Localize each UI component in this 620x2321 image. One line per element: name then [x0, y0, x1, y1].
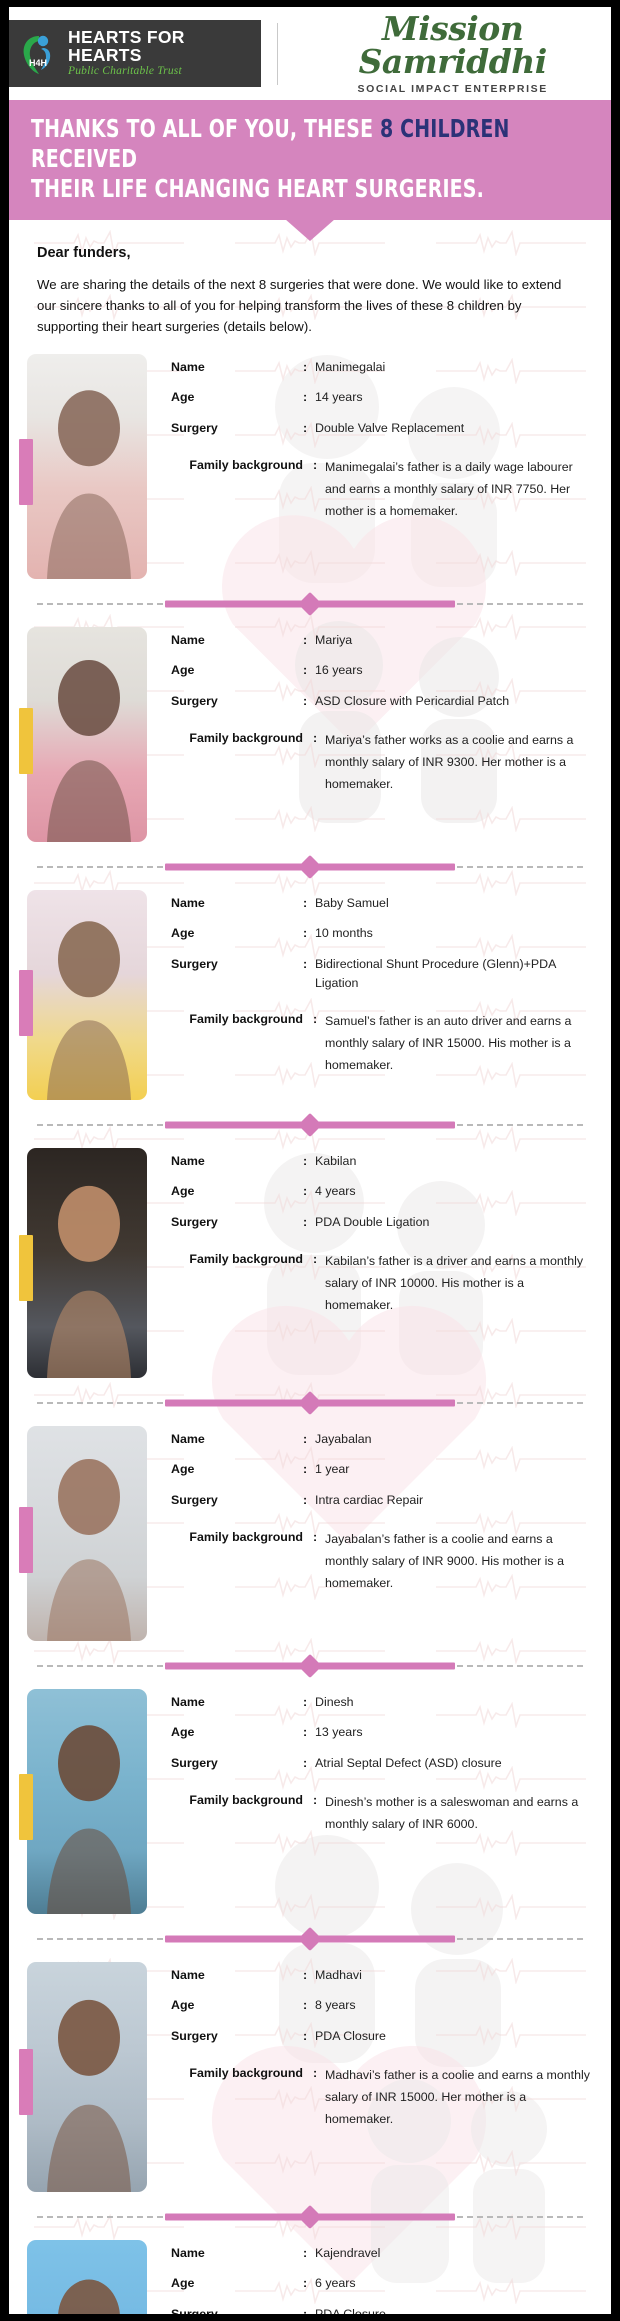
family-background-colon: : [313, 1250, 325, 1269]
divider-diamond-icon [298, 855, 322, 879]
divider-diamond-icon [298, 1654, 322, 1678]
child-entry: Name:KabilanAge: 4 yearsSurgery:PDA Doub… [9, 1148, 611, 1378]
child-photo [27, 1426, 147, 1641]
family-background-colon: : [313, 1010, 325, 1029]
family-background-value: Dinesh’s mother is a saleswoman and earn… [325, 1791, 591, 1835]
family-background-colon: : [313, 1791, 325, 1810]
surgery-colon: : [303, 2305, 315, 2314]
name-value: Manimegalai [315, 358, 385, 377]
surgery-value: Atrial Septal Defect (ASD) closure [315, 1754, 502, 1773]
divider-diamond-icon [298, 1927, 322, 1951]
name-label: Name [171, 1430, 303, 1449]
surgery-value: ASD Closure with Pericardial Patch [315, 692, 509, 711]
name-label: Name [171, 1152, 303, 1171]
surgery-colon: : [303, 1754, 315, 1773]
surgery-value: Double Valve Replacement [315, 419, 464, 438]
headline-part2: RECEIVED [31, 144, 137, 173]
name-row: Name:Baby Samuel [171, 894, 591, 913]
age-label: Age [171, 1460, 303, 1479]
surgery-label: Surgery [171, 1754, 303, 1773]
name-value: Jayabalan [315, 1430, 372, 1449]
surgery-row: Surgery:Atrial Septal Defect (ASD) closu… [171, 1754, 591, 1773]
name-row: Name:Jayabalan [171, 1430, 591, 1449]
surgery-colon: : [303, 1491, 315, 1510]
age-label: Age [171, 1723, 303, 1742]
divider-diamond-icon [298, 2205, 322, 2229]
family-background-value: Samuel’s father is an auto driver and ea… [325, 1010, 591, 1076]
family-background-value: Madhavi’s father is a coolie and earns a… [325, 2064, 591, 2130]
accent-bar [19, 708, 33, 774]
surgery-colon: : [303, 1213, 315, 1232]
age-value: 16 years [315, 661, 363, 680]
age-value: 14 years [315, 388, 363, 407]
age-colon: : [303, 1996, 315, 2015]
child-photo [27, 890, 147, 1100]
family-background-row: Family background:Mariya’s father works … [171, 729, 591, 795]
family-background-colon: : [313, 456, 325, 475]
family-background-colon: : [313, 1528, 325, 1547]
age-value: 6 years [315, 2274, 356, 2293]
family-background-colon: : [313, 2064, 325, 2083]
surgery-label: Surgery [171, 419, 303, 438]
name-value: Mariya [315, 631, 352, 650]
accent-bar [19, 970, 33, 1036]
name-value: Dinesh [315, 1693, 354, 1712]
surgery-row: Surgery:PDA Closure [171, 2027, 591, 2046]
child-photo-wrap [27, 890, 147, 1100]
name-value: Kajendravel [315, 2244, 380, 2263]
child-entry: Name:MadhaviAge:8 yearsSurgery:PDA Closu… [9, 1962, 611, 2192]
name-colon: : [303, 2244, 315, 2263]
intro-section: Dear funders, We are sharing the details… [9, 220, 611, 344]
surgery-label: Surgery [171, 955, 303, 992]
entry-divider [9, 585, 611, 623]
name-colon: : [303, 1693, 315, 1712]
accent-bar [19, 2049, 33, 2115]
headline: THANKS TO ALL OF YOU, THESE 8 CHILDREN R… [31, 114, 511, 204]
surgery-value: PDA Closure [315, 2305, 386, 2314]
children-list: Name:ManimegalaiAge:14 yearsSurgery:Doub… [9, 344, 611, 2314]
header: H4H HEARTS FOR HEARTS Public Charitable … [9, 7, 611, 100]
family-background-value: Kabilan’s father is a driver and earns a… [325, 1250, 591, 1316]
surgery-value: Intra cardiac Repair [315, 1491, 423, 1510]
name-colon: : [303, 1152, 315, 1171]
accent-bar [19, 439, 33, 505]
age-colon: : [303, 1182, 315, 1201]
age-colon: : [303, 661, 315, 680]
age-row: Age:16 years [171, 661, 591, 680]
child-photo-wrap [27, 1426, 147, 1641]
age-value: 8 years [315, 1996, 356, 2015]
surgery-row: Surgery:PDA Closure [171, 2305, 591, 2314]
entry-divider [9, 1106, 611, 1144]
h4h-logo-icon: H4H [19, 32, 59, 76]
entry-divider [9, 2198, 611, 2236]
age-colon: : [303, 2274, 315, 2293]
entry-divider [9, 848, 611, 886]
infographic-page: H4H HEARTS FOR HEARTS Public Charitable … [0, 0, 620, 2321]
surgery-row: Surgery:ASD Closure with Pericardial Pat… [171, 692, 591, 711]
family-background-row: Family background:Madhavi’s father is a … [171, 2064, 591, 2130]
hearts-for-hearts-logo: H4H HEARTS FOR HEARTS Public Charitable … [9, 20, 261, 87]
age-colon: : [303, 1460, 315, 1479]
child-details: Name:ManimegalaiAge:14 yearsSurgery:Doub… [147, 354, 591, 579]
name-label: Name [171, 1693, 303, 1712]
svg-text:H4H: H4H [29, 58, 47, 68]
child-photo-wrap [27, 1689, 147, 1914]
entry-divider [9, 1647, 611, 1685]
surgery-row: Surgery:Double Valve Replacement [171, 419, 591, 438]
age-value: 4 years [315, 1182, 356, 1201]
child-entry: Name:ManimegalaiAge:14 yearsSurgery:Doub… [9, 354, 611, 579]
family-background-row: Family background:Jayabalan’s father is … [171, 1528, 591, 1594]
name-row: Name:Dinesh [171, 1693, 591, 1712]
surgery-value: Bidirectional Shunt Procedure (Glenn)+PD… [315, 955, 591, 992]
headline-part1: THANKS TO ALL OF YOU, THESE [31, 114, 380, 143]
child-details: Name:MadhaviAge:8 yearsSurgery:PDA Closu… [147, 1962, 591, 2192]
name-colon: : [303, 358, 315, 377]
surgery-colon: : [303, 419, 315, 438]
logo-divider [277, 23, 279, 85]
child-photo [27, 1689, 147, 1914]
child-photo [27, 2240, 147, 2314]
family-background-colon: : [313, 729, 325, 748]
family-background-value: Manimegalai’s father is a daily wage lab… [325, 456, 591, 522]
surgery-label: Surgery [171, 1213, 303, 1232]
age-value: 1 year [315, 1460, 349, 1479]
age-row: Age:1 year [171, 1460, 591, 1479]
headline-highlight: 8 CHILDREN [380, 114, 510, 143]
child-entry: Name:DineshAge:13 yearsSurgery:Atrial Se… [9, 1689, 611, 1914]
name-row: Name:Kabilan [171, 1152, 591, 1171]
family-background-row: Family background:Dinesh’s mother is a s… [171, 1791, 591, 1835]
name-row: Name:Mariya [171, 631, 591, 650]
child-entry: Name:KajendravelAge:6 yearsSurgery:PDA C… [9, 2240, 611, 2314]
age-row: Age:10 months [171, 924, 591, 943]
family-background-row: Family background:Manimegalai’s father i… [171, 456, 591, 522]
age-label: Age [171, 661, 303, 680]
age-label: Age [171, 2274, 303, 2293]
name-row: Name:Manimegalai [171, 358, 591, 377]
family-background-value: Mariya’s father works as a coolie and ea… [325, 729, 591, 795]
age-colon: : [303, 1723, 315, 1742]
divider-diamond-icon [298, 1113, 322, 1137]
child-entry: Name:JayabalanAge:1 yearSurgery: Intra c… [9, 1426, 611, 1641]
age-value: 10 months [315, 924, 373, 943]
surgery-row: Surgery: Intra cardiac Repair [171, 1491, 591, 1510]
child-photo-wrap [27, 2240, 147, 2314]
age-row: Age:6 years [171, 2274, 591, 2293]
child-photo-wrap [27, 627, 147, 842]
child-photo [27, 1148, 147, 1378]
entry-divider [9, 1920, 611, 1958]
family-background-label: Family background [171, 2064, 313, 2083]
name-value: Madhavi [315, 1966, 362, 1985]
trust-tagline: Public Charitable Trust [68, 66, 247, 78]
child-photo [27, 1962, 147, 2192]
family-background-row: Family background:Kabilan’s father is a … [171, 1250, 591, 1316]
child-entry: Name:MariyaAge:16 yearsSurgery:ASD Closu… [9, 627, 611, 842]
accent-bar [19, 1235, 33, 1301]
surgery-row: Surgery:PDA Double Ligation [171, 1213, 591, 1232]
partner-name: Mission Samriddhi [294, 12, 611, 78]
name-value: Baby Samuel [315, 894, 389, 913]
accent-bar [19, 1507, 33, 1573]
headline-line2: THEIR LIFE CHANGING HEART SURGERIES. [31, 174, 484, 203]
age-label: Age [171, 1182, 303, 1201]
family-background-label: Family background [171, 1528, 313, 1547]
child-details: Name:KabilanAge: 4 yearsSurgery:PDA Doub… [147, 1148, 591, 1378]
name-colon: : [303, 1430, 315, 1449]
surgery-value: PDA Closure [315, 2027, 386, 2046]
name-colon: : [303, 1966, 315, 1985]
salutation: Dear funders, [37, 245, 583, 261]
entry-divider [9, 1384, 611, 1422]
age-row: Age:8 years [171, 1996, 591, 2015]
name-label: Name [171, 1966, 303, 1985]
child-photo-wrap [27, 1962, 147, 2192]
child-photo [27, 627, 147, 842]
intro-paragraph: We are sharing the details of the next 8… [37, 274, 583, 338]
family-background-label: Family background [171, 1010, 313, 1029]
name-label: Name [171, 2244, 303, 2263]
child-details: Name:KajendravelAge:6 yearsSurgery:PDA C… [147, 2240, 591, 2314]
child-details: Name:JayabalanAge:1 yearSurgery: Intra c… [147, 1426, 591, 1641]
surgery-colon: : [303, 2027, 315, 2046]
name-row: Name:Madhavi [171, 1966, 591, 1985]
family-background-label: Family background [171, 456, 313, 475]
family-background-value: Jayabalan’s father is a coolie and earns… [325, 1528, 591, 1594]
family-background-label: Family background [171, 729, 313, 748]
trust-name: HEARTS FOR HEARTS [68, 29, 247, 64]
child-photo-wrap [27, 1148, 147, 1378]
name-label: Name [171, 894, 303, 913]
partner-tagline: SOCIAL IMPACT ENTERPRISE [294, 83, 611, 95]
surgery-colon: : [303, 955, 315, 992]
child-details: Name:Baby SamuelAge:10 monthsSurgery:Bid… [147, 890, 591, 1100]
child-photo-wrap [27, 354, 147, 579]
mission-samriddhi-logo: Mission Samriddhi SOCIAL IMPACT ENTERPRI… [294, 12, 611, 95]
headline-banner: THANKS TO ALL OF YOU, THESE 8 CHILDREN R… [9, 100, 611, 220]
surgery-label: Surgery [171, 1491, 303, 1510]
name-colon: : [303, 894, 315, 913]
age-label: Age [171, 388, 303, 407]
divider-diamond-icon [298, 1391, 322, 1415]
child-entry: Name:Baby SamuelAge:10 monthsSurgery:Bid… [9, 890, 611, 1100]
surgery-label: Surgery [171, 692, 303, 711]
age-colon: : [303, 388, 315, 407]
child-details: Name:MariyaAge:16 yearsSurgery:ASD Closu… [147, 627, 591, 842]
age-row: Age:14 years [171, 388, 591, 407]
age-label: Age [171, 924, 303, 943]
name-label: Name [171, 631, 303, 650]
accent-bar [19, 1774, 33, 1840]
name-label: Name [171, 358, 303, 377]
surgery-label: Surgery [171, 2305, 303, 2314]
name-colon: : [303, 631, 315, 650]
age-colon: : [303, 924, 315, 943]
family-background-label: Family background [171, 1250, 313, 1269]
surgery-colon: : [303, 692, 315, 711]
surgery-row: Surgery:Bidirectional Shunt Procedure (G… [171, 955, 591, 992]
child-photo [27, 354, 147, 579]
surgery-label: Surgery [171, 2027, 303, 2046]
surgery-value: PDA Double Ligation [315, 1213, 429, 1232]
age-label: Age [171, 1996, 303, 2015]
age-row: Age:13 years [171, 1723, 591, 1742]
age-value: 13 years [315, 1723, 363, 1742]
family-background-label: Family background [171, 1791, 313, 1810]
name-value: Kabilan [315, 1152, 356, 1171]
family-background-row: Family background:Samuel’s father is an … [171, 1010, 591, 1076]
age-row: Age: 4 years [171, 1182, 591, 1201]
divider-diamond-icon [298, 592, 322, 616]
child-details: Name:DineshAge:13 yearsSurgery:Atrial Se… [147, 1689, 591, 1914]
name-row: Name:Kajendravel [171, 2244, 591, 2263]
